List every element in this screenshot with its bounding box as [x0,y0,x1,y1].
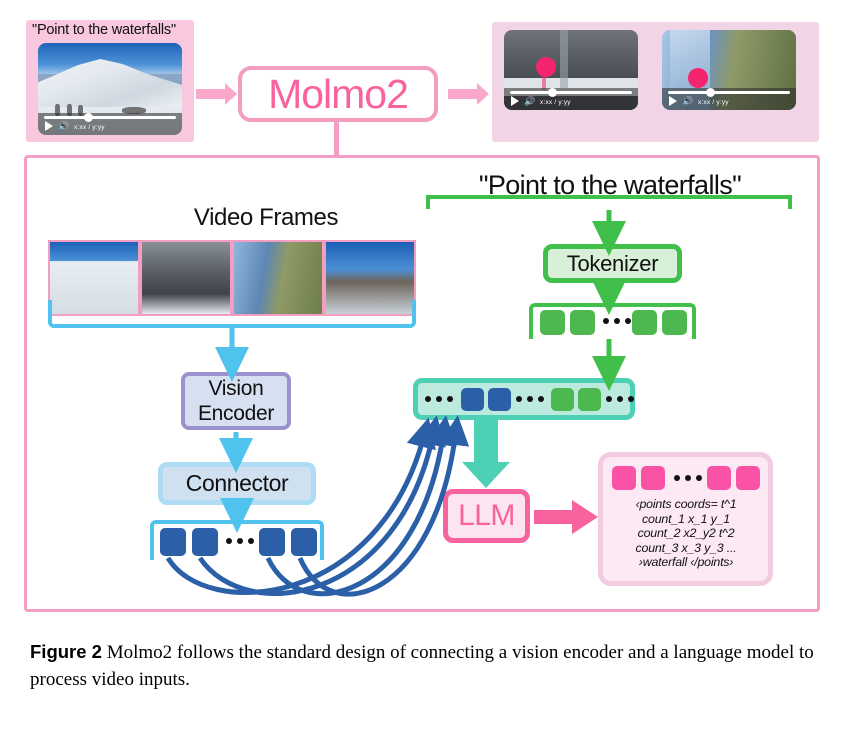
figure-caption-text: Molmo2 follows the standard design of co… [30,642,814,690]
combined-left-ellipsis [425,396,453,402]
play-icon[interactable] [45,121,53,131]
video-progress-knob[interactable] [84,113,93,122]
video-progress-knob[interactable] [548,88,557,97]
molmo2-label: Molmo2 [268,74,408,115]
vision-encoder-label: VisionEncoder [198,376,274,426]
output-video-player-2[interactable]: 🔊 x:xx / y:yy [662,30,796,110]
input-video-player[interactable]: 🔊 x:xx / y:yy [38,43,182,135]
molmo2-model-box: Molmo2 [238,66,438,122]
output-text-line: ‹points coords= t^1 [602,497,770,512]
combined-right-ellipsis [606,396,634,402]
output-token [612,466,636,490]
output-video-player-1[interactable]: 🔊 x:xx / y:yy [504,30,638,110]
text-tokens-ellipsis [603,318,631,324]
vision-token [192,528,218,556]
video-controls[interactable]: 🔊 x:xx / y:yy [662,88,796,110]
figure-caption: Figure 2 Molmo2 follows the standard des… [30,638,820,693]
output-token [736,466,760,490]
text-token [632,310,657,335]
play-icon[interactable] [669,96,677,106]
video-time-label: x:xx / y:yy [74,124,105,131]
text-token [662,310,687,335]
volume-icon[interactable]: 🔊 [524,96,536,106]
video-time-label: x:xx / y:yy [698,99,729,106]
vision-tokens-ellipsis [226,538,254,544]
volume-icon[interactable]: 🔊 [58,121,70,131]
molmo2-panel-connector-line [334,122,339,155]
vision-token [160,528,186,556]
frames-bracket [48,300,416,328]
combined-text-token [551,388,574,411]
llm-label: LLM [458,499,515,533]
vision-token [259,528,285,556]
llm-box: LLM [443,489,530,543]
video-frames-title: Video Frames [146,204,386,232]
point-marker [688,68,708,88]
combined-vision-token [488,388,511,411]
output-tokens-row [612,466,760,492]
vision-token [291,528,317,556]
combined-vision-token [461,388,484,411]
output-token [707,466,731,490]
video-controls[interactable]: 🔊 x:xx / y:yy [38,113,182,135]
combined-middle-ellipsis [516,396,544,402]
output-text-line: count_2 x2_y2 t^2 [602,526,770,541]
point-marker [536,57,556,77]
volume-icon[interactable]: 🔊 [682,96,694,106]
output-text-line: count_3 x_3 y_3 ... [602,541,770,556]
input-prompt-caption: "Point to the waterfalls" [32,22,192,42]
output-token [641,466,665,490]
tokenizer-box: Tokenizer [543,244,682,283]
arrow-model-to-output-icon [448,89,478,99]
video-progress-bar[interactable] [44,116,176,119]
connector-box: Connector [158,462,316,505]
figure-label: Figure 2 [30,641,102,662]
arrow-input-to-model-icon [196,89,226,99]
combined-text-token [578,388,601,411]
play-icon[interactable] [511,96,519,106]
output-tokens-ellipsis [674,475,702,481]
video-time-label: x:xx / y:yy [540,99,571,106]
text-token [570,310,595,335]
vision-encoder-box: VisionEncoder [181,372,291,430]
question-bracket [426,195,792,209]
output-points-text: ‹points coords= t^1 count_1 x_1 y_1 coun… [602,497,770,570]
output-text-line: ›waterfall ‹/points› [602,555,770,570]
video-progress-bar[interactable] [510,91,632,94]
video-progress-knob[interactable] [706,88,715,97]
connector-label: Connector [186,470,289,497]
output-text-line: count_1 x_1 y_1 [602,512,770,527]
video-progress-bar[interactable] [668,91,790,94]
video-waterfall-streak [560,30,568,88]
video-controls[interactable]: 🔊 x:xx / y:yy [504,88,638,110]
tokenizer-label: Tokenizer [567,251,658,277]
text-token [540,310,565,335]
